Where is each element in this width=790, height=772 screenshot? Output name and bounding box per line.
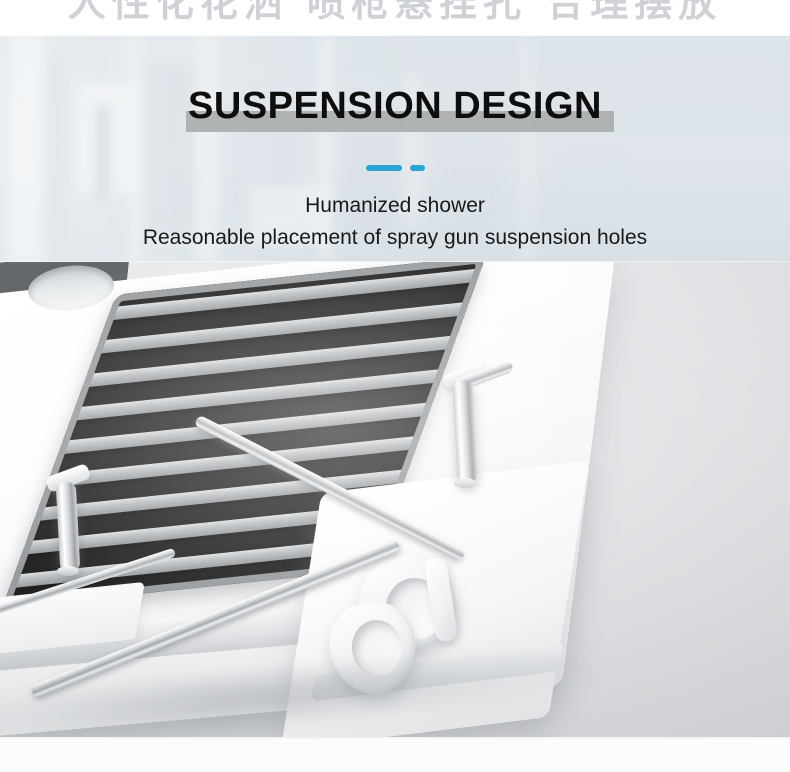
product-photo — [0, 262, 790, 737]
subtitle-line-1: Humanized shower — [0, 191, 790, 221]
product-detail-page: 人性化花洒 喷枪悬挂孔 合理摆放 — [0, 0, 790, 772]
cjk-overflow-strip: 人性化花洒 喷枪悬挂孔 合理摆放 — [0, 0, 790, 38]
banner-subcopy: Humanized shower Reasonable placement of… — [0, 191, 790, 254]
page-bottom-divider — [0, 737, 790, 739]
divider-dash-long — [366, 165, 402, 171]
cjk-overflow-text: 人性化花洒 喷枪悬挂孔 合理摆放 — [68, 0, 722, 27]
divider-dash-short — [410, 165, 425, 171]
banner-backdrop: SUSPENSION DESIGN Humanized shower Reaso… — [0, 35, 790, 262]
page-bottom-strip — [0, 737, 790, 772]
photo-vignette — [0, 262, 790, 737]
headline-block: SUSPENSION DESIGN — [0, 80, 790, 142]
suspension-design-banner: 人性化花洒 喷枪悬挂孔 合理摆放 — [0, 0, 790, 262]
subtitle-line-2: Reasonable placement of spray gun suspen… — [0, 221, 790, 254]
banner-top-hairline — [0, 35, 790, 36]
blue-dash-divider — [0, 163, 790, 173]
page-title: SUSPENSION DESIGN — [188, 80, 602, 132]
